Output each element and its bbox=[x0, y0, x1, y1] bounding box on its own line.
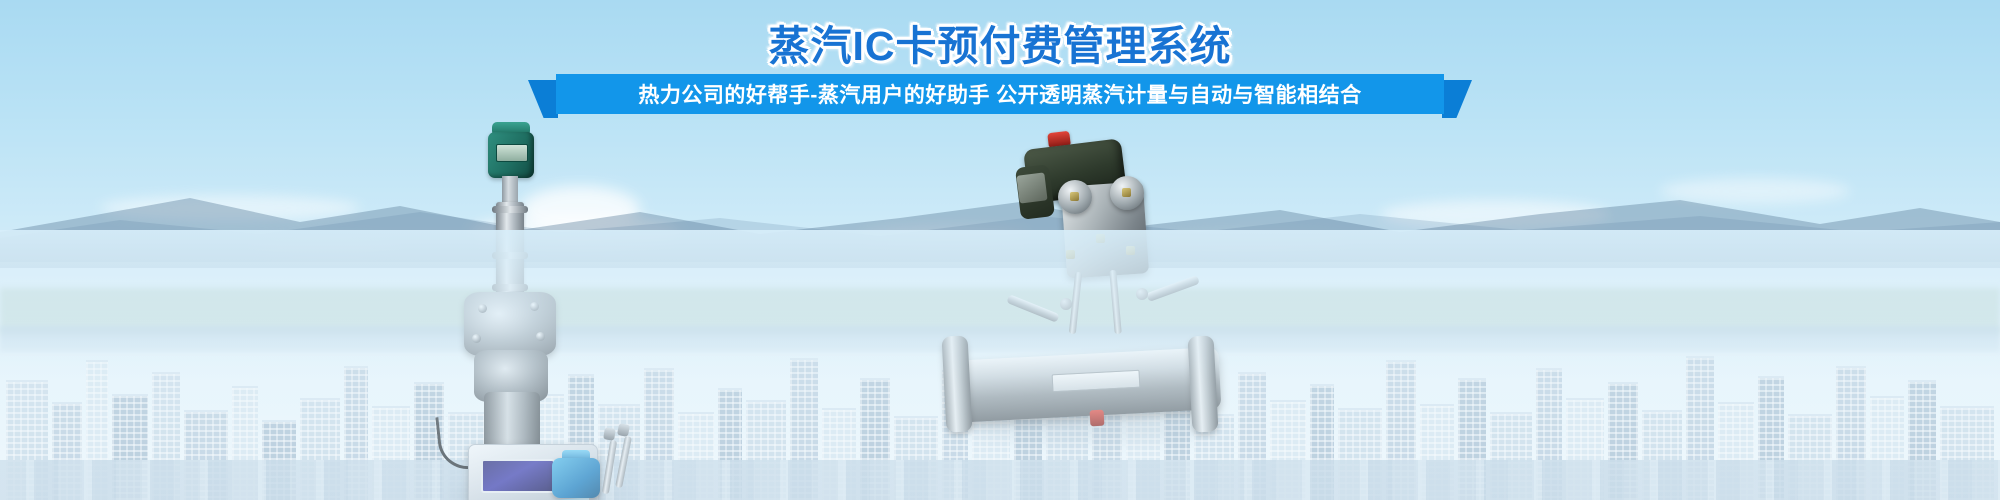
product-hero-banner: 蒸汽IC卡预付费管理系统 热力公司的好帮手-蒸汽用户的好助手 公开透明蒸汽计量与… bbox=[0, 0, 2000, 500]
sensor-probe bbox=[615, 436, 632, 488]
pipe-red-marker bbox=[1090, 410, 1105, 427]
subtitle-ribbon: 热力公司的好帮手-蒸汽用户的好助手 公开透明蒸汽计量与自动与智能相结合 bbox=[0, 74, 2000, 118]
pipe-flange-left bbox=[942, 335, 973, 432]
manifold-valve-handle-right bbox=[1146, 275, 1200, 302]
valve-knob-right bbox=[1136, 288, 1148, 300]
stem-ring bbox=[492, 206, 528, 213]
vortex-flow-meter-product bbox=[430, 128, 660, 500]
stem-ring bbox=[492, 252, 528, 259]
meter-flange-upper bbox=[464, 292, 556, 356]
reader-lcd-screen bbox=[481, 459, 555, 493]
meter-display-window bbox=[496, 144, 528, 162]
impulse-tube bbox=[1109, 270, 1122, 334]
valve-knob-left bbox=[1060, 298, 1072, 310]
blue-temperature-sensor bbox=[552, 458, 600, 498]
dp-nameplate-cover bbox=[1016, 172, 1047, 203]
manifold-valve-handle-left bbox=[1006, 294, 1059, 323]
stem-ring bbox=[492, 284, 528, 291]
ribbon-tail-left bbox=[528, 80, 558, 118]
orifice-plate-dp-flow-meter-product bbox=[940, 122, 1270, 500]
sensor-probe bbox=[602, 440, 617, 494]
ribbon-tail-right bbox=[1442, 80, 1472, 118]
subtitle-text: 热力公司的好帮手-蒸汽用户的好助手 公开透明蒸汽计量与自动与智能相结合 bbox=[556, 74, 1444, 114]
pipe-flange-right bbox=[1188, 335, 1219, 432]
probe-tip bbox=[617, 423, 630, 437]
probe-tip bbox=[603, 427, 616, 441]
page-title: 蒸汽IC卡预付费管理系统 bbox=[0, 22, 2000, 70]
